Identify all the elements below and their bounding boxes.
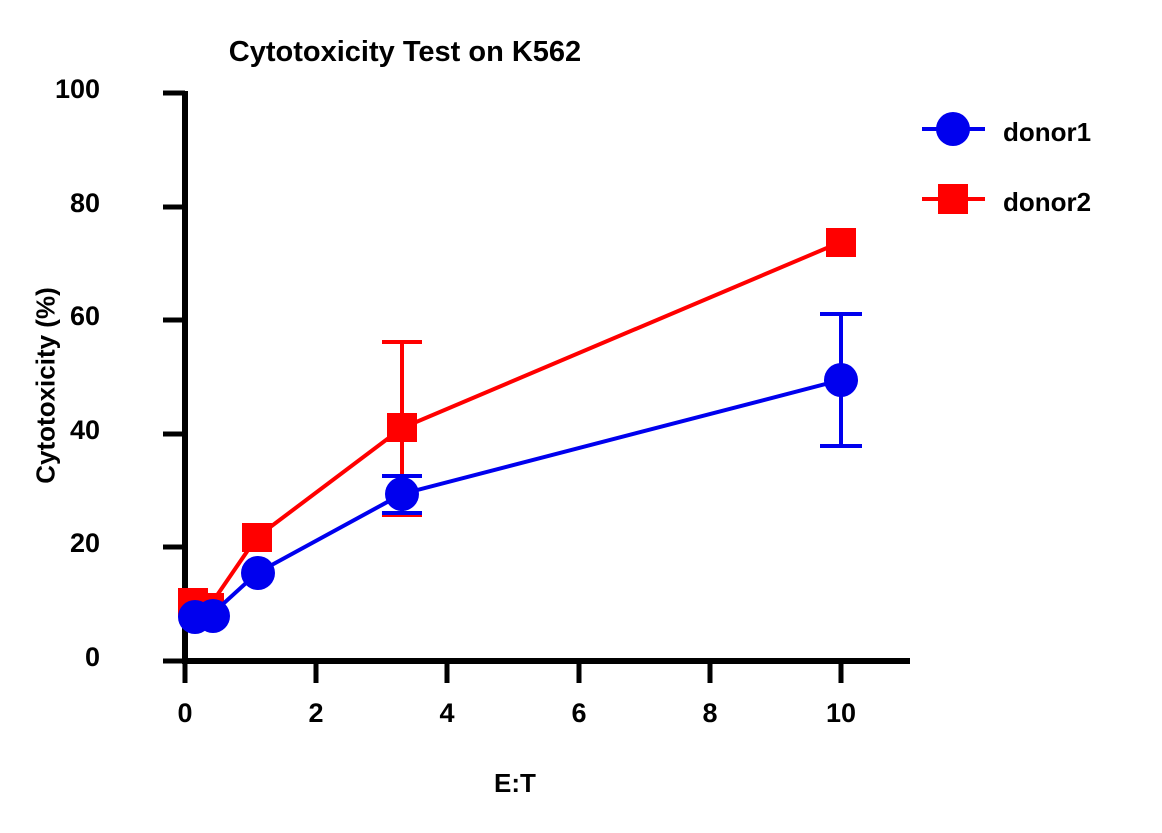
series-donor1-line [195, 380, 841, 617]
chart-figure: Cytotoxicity Test on K562 Cytotoxicity (… [0, 0, 1162, 833]
series-donor2-line [193, 242, 841, 607]
legend-key-donor1[interactable] [922, 112, 985, 146]
y-axis-ticks [163, 93, 185, 661]
plot-canvas [0, 0, 1162, 833]
series-donor1 [178, 314, 862, 634]
x-axis-ticks [185, 661, 841, 683]
legend-key-donor2[interactable] [922, 184, 985, 214]
